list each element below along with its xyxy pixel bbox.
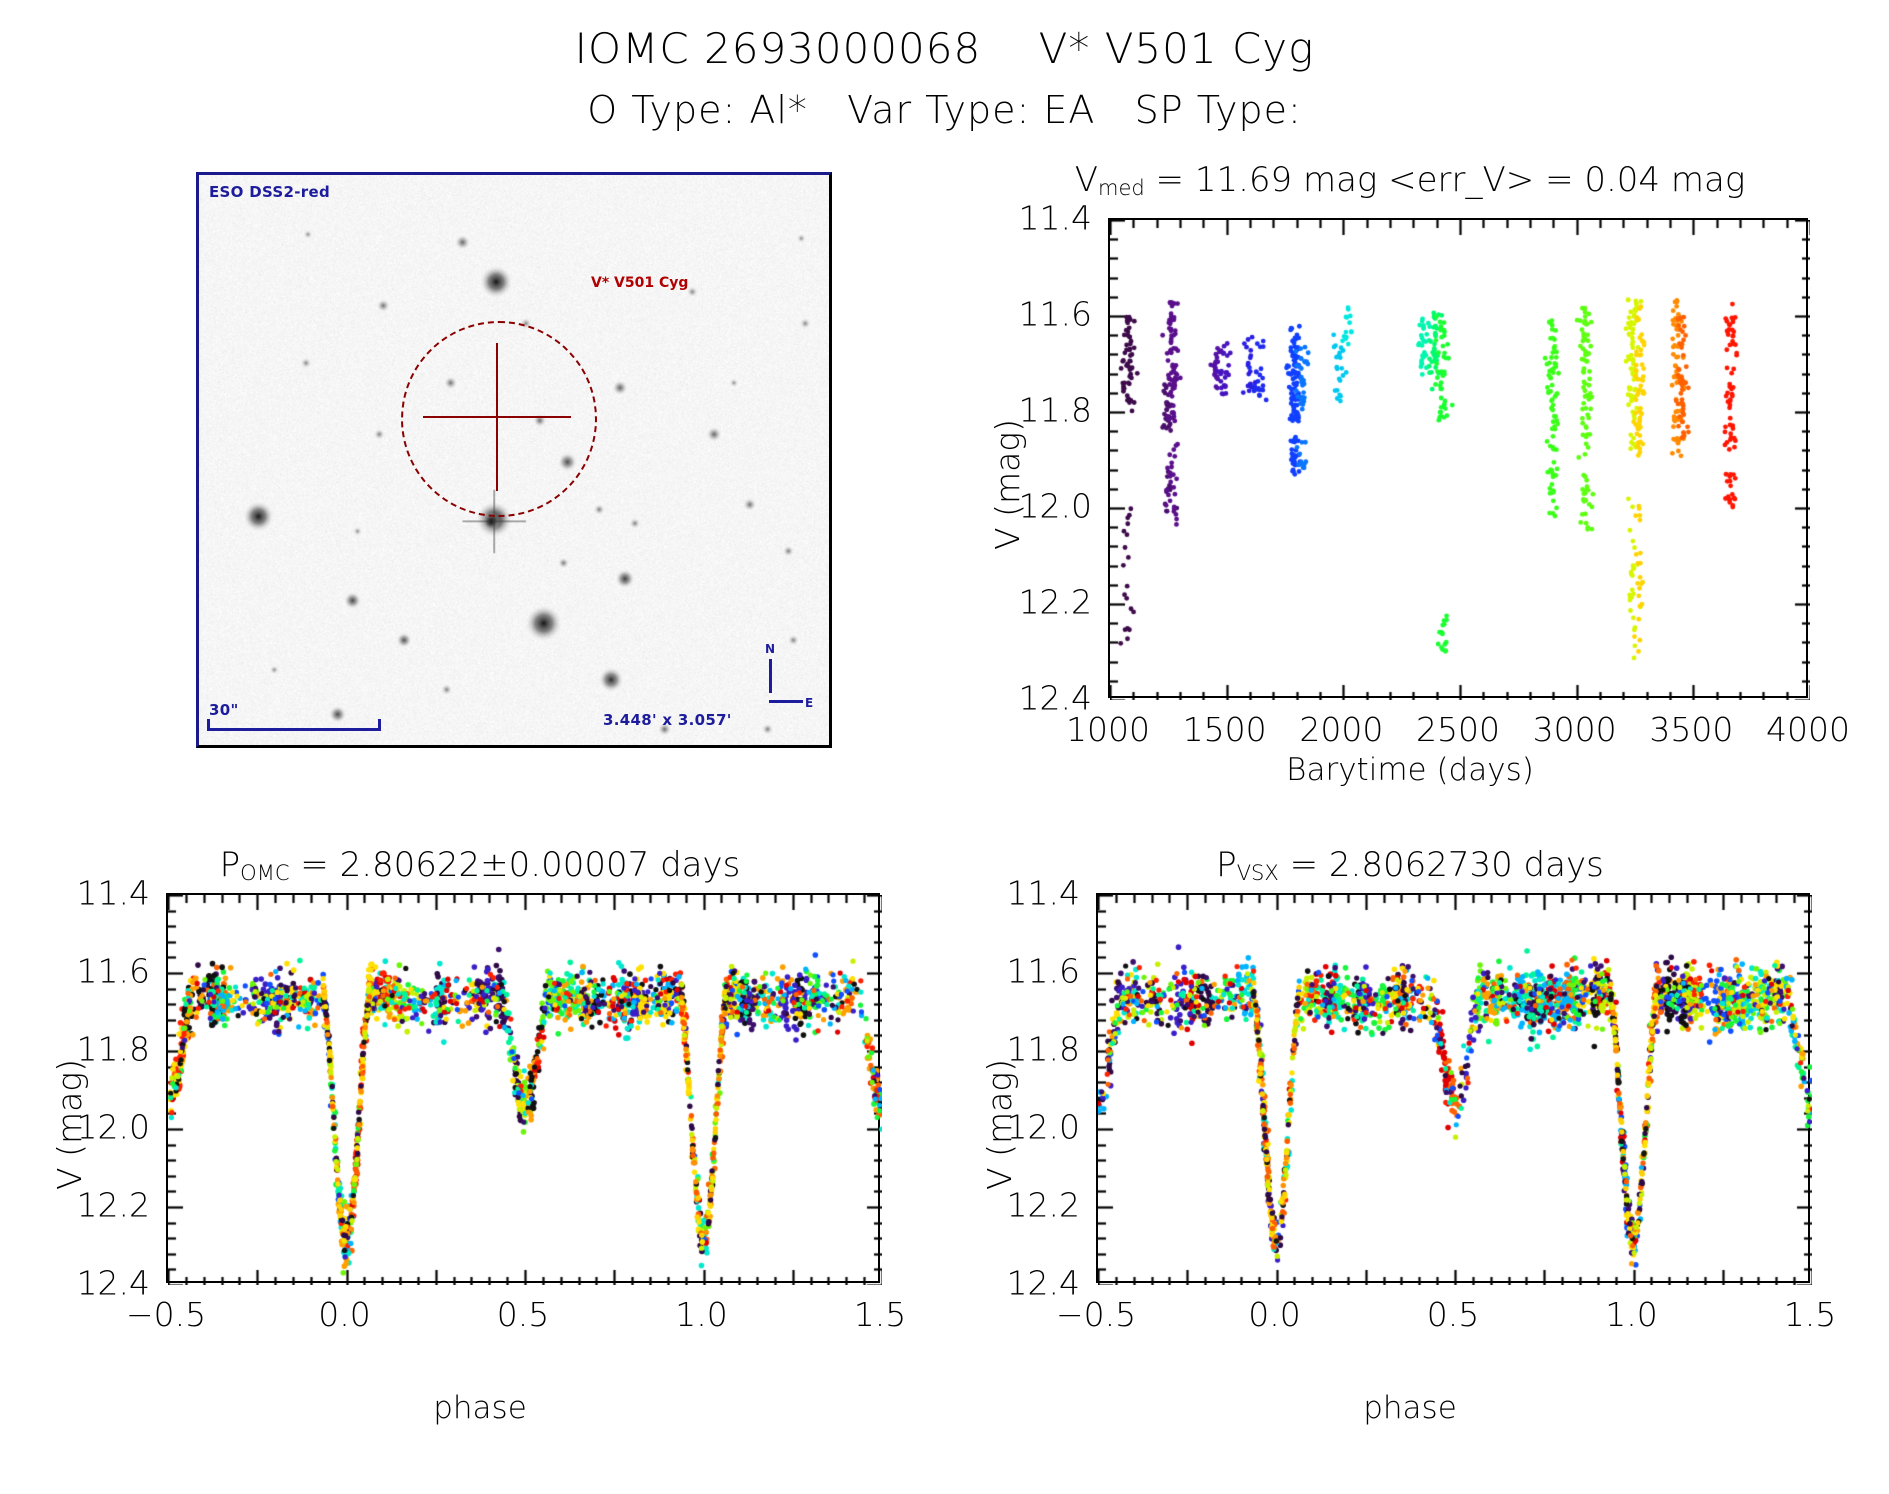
page-title: IOMC 2693000068 V* V501 Cyg — [0, 24, 1889, 73]
phase-omc-xtick-label: 0.5 — [497, 1295, 549, 1334]
lightcurve-xtick-label: 1500 — [1183, 710, 1267, 749]
lightcurve-ytick-label: 11.4 — [960, 199, 1092, 238]
phase-omc-xtick-label: −0.5 — [126, 1295, 206, 1334]
phase-vsx-xlabel: phase — [950, 1390, 1870, 1426]
lightcurve-xlabel: Barytime (days) — [960, 752, 1860, 788]
phase-omc-xlabel: phase — [20, 1390, 940, 1426]
phase-omc-title-prefix: P — [220, 845, 241, 885]
phase-omc-title-rest: = 2.80622±0.00007 days — [289, 845, 740, 885]
lightcurve-xtick-label: 3500 — [1649, 710, 1733, 749]
phase-vsx-plot-area — [1096, 893, 1810, 1283]
phase-vsx-title-sub: VSX — [1237, 861, 1279, 885]
phase-vsx-xtick-label: 0.0 — [1248, 1295, 1300, 1334]
phase-omc-xtick-label: 1.0 — [675, 1295, 727, 1334]
phase-omc-title: POMC = 2.80622±0.00007 days — [20, 845, 940, 885]
phase-vsx-xtick-label: 1.5 — [1784, 1295, 1836, 1334]
phase-omc-plot-area — [166, 893, 880, 1283]
phase-vsx-ytick-label: 11.6 — [950, 952, 1080, 991]
field-of-view-label: 3.448' x 3.057' — [603, 711, 732, 729]
phase-omc-ytick-label: 11.6 — [20, 952, 150, 991]
lightcurve-ytick-label: 12.2 — [960, 583, 1092, 622]
crosshair-horizontal-icon — [423, 416, 571, 418]
lightcurve-xtick-label: 2500 — [1416, 710, 1500, 749]
scale-bar-label: 30" — [209, 701, 239, 719]
finder-chart-frame: V* V501 Cyg ESO DSS2-red 30" 3.448' x 3.… — [196, 172, 832, 748]
phase-vsx-ytick-label: 11.4 — [950, 874, 1080, 913]
aperture-circle — [401, 321, 597, 517]
compass-icon: N E — [769, 659, 813, 703]
lightcurve-xtick-label: 3000 — [1533, 710, 1617, 749]
phase-omc-xtick-label: 0.0 — [318, 1295, 370, 1334]
phase-vsx-title-rest: = 2.8062730 days — [1279, 845, 1604, 885]
scale-bar-icon — [207, 719, 381, 731]
phase-vsx-xtick-label: 1.0 — [1605, 1295, 1657, 1334]
phase-vsx-xtick-label: −0.5 — [1056, 1295, 1136, 1334]
phase-vsx-xtick-label: 0.5 — [1427, 1295, 1479, 1334]
survey-label: ESO DSS2-red — [209, 183, 330, 201]
finder-chart-panel: V* V501 Cyg ESO DSS2-red 30" 3.448' x 3.… — [196, 172, 836, 752]
phase-omc-ylabel: V (mag) — [50, 1059, 89, 1190]
phase-vsx-panel: PVSX = 2.8062730 days 11.411.611.812.012… — [950, 845, 1870, 1485]
phase-omc-ytick-label: 12.2 — [20, 1186, 150, 1225]
lightcurve-ytick-label: 11.6 — [960, 295, 1092, 334]
phase-omc-ytick-label: 11.4 — [20, 874, 150, 913]
phase-omc-xtick-label: 1.5 — [854, 1295, 906, 1334]
lightcurve-xtick-label: 4000 — [1766, 710, 1850, 749]
phase-vsx-title: PVSX = 2.8062730 days — [950, 845, 1870, 885]
lightcurve-title-rest: = 11.69 mag <err_V> = 0.04 mag — [1145, 160, 1746, 200]
lightcurve-panel: Vmed = 11.69 mag <err_V> = 0.04 mag 11.4… — [960, 160, 1860, 820]
phase-vsx-ylabel: V (mag) — [980, 1059, 1019, 1190]
target-star-label: V* V501 Cyg — [591, 275, 688, 291]
compass-north-label: N — [765, 642, 775, 656]
phase-omc-title-sub: OMC — [240, 861, 289, 885]
lightcurve-title-prefix: V — [1075, 160, 1098, 200]
phase-omc-panel: POMC = 2.80622±0.00007 days 11.411.611.8… — [20, 845, 940, 1485]
lightcurve-plot-area — [1108, 218, 1808, 698]
lightcurve-title-sub: med — [1098, 176, 1145, 200]
lightcurve-xtick-label: 1000 — [1066, 710, 1150, 749]
phase-vsx-title-prefix: P — [1216, 845, 1237, 885]
phase-vsx-ytick-label: 12.2 — [950, 1186, 1080, 1225]
lightcurve-title: Vmed = 11.69 mag <err_V> = 0.04 mag — [960, 160, 1860, 200]
lightcurve-ylabel: V (mag) — [988, 419, 1027, 550]
object-type-line: O Type: Al* Var Type: EA SP Type: — [0, 88, 1889, 132]
compass-east-label: E — [805, 696, 813, 710]
lightcurve-xtick-label: 2000 — [1299, 710, 1383, 749]
